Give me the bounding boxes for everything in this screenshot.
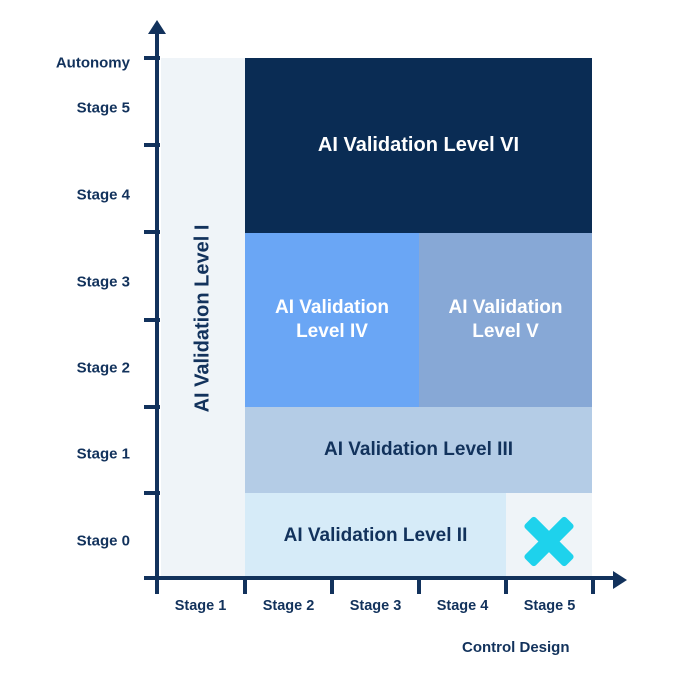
region-label-level-4-line1: AI Validation xyxy=(275,297,389,318)
region-label-level-3: AI Validation Level III xyxy=(324,438,513,462)
region-label-level-5: AI Validation Level V xyxy=(448,296,562,344)
x-axis-arrow-icon xyxy=(613,571,627,589)
y-axis-label-stage-5: Stage 5 xyxy=(77,101,130,116)
region-ai-validation-level-6[interactable]: AI Validation Level VI xyxy=(245,58,592,233)
y-tick-stage-3 xyxy=(144,318,160,322)
x-axis-label-stage-5: Stage 5 xyxy=(506,598,593,614)
y-axis-label-stage-3: Stage 3 xyxy=(77,275,130,290)
x-tick-5 xyxy=(591,578,595,594)
region-ai-validation-level-4[interactable]: AI Validation Level IV xyxy=(245,233,419,407)
region-ai-validation-level-5[interactable]: AI Validation Level V xyxy=(419,233,592,407)
diagram-canvas: AI Validation Level I AI Validation Leve… xyxy=(0,0,685,685)
x-tick-3 xyxy=(417,578,421,594)
y-tick-stage-4 xyxy=(144,230,160,234)
region-label-level-4-line2: Level IV xyxy=(296,321,368,342)
y-tick-stage-5 xyxy=(144,143,160,147)
x-tick-2 xyxy=(330,578,334,594)
region-label-level-2: AI Validation Level II xyxy=(284,524,468,548)
y-tick-autonomy xyxy=(144,56,160,60)
y-axis-label-stage-0: Stage 0 xyxy=(77,534,130,549)
x-axis-label-stage-2: Stage 2 xyxy=(245,598,332,614)
region-label-level-1: AI Validation Level I xyxy=(191,224,216,412)
y-tick-stage-1 xyxy=(144,491,160,495)
x-axis-label-stage-4: Stage 4 xyxy=(419,598,506,614)
y-axis-label-stage-4: Stage 4 xyxy=(77,188,130,203)
x-axis-label-stage-3: Stage 3 xyxy=(332,598,419,614)
y-axis-label-stage-1: Stage 1 xyxy=(77,447,130,462)
x-tick-1 xyxy=(243,578,247,594)
y-tick-stage-2 xyxy=(144,405,160,409)
y-axis-arrow-icon xyxy=(148,20,166,34)
region-ai-validation-level-1[interactable]: AI Validation Level I xyxy=(161,58,245,578)
x-tick-4 xyxy=(504,578,508,594)
region-ai-validation-level-3[interactable]: AI Validation Level III xyxy=(245,407,592,493)
x-mark-icon xyxy=(521,513,577,569)
x-tick-0 xyxy=(155,578,159,594)
region-ai-validation-level-2[interactable]: AI Validation Level II xyxy=(245,493,506,578)
y-axis-label-autonomy: Autonomy xyxy=(56,56,130,71)
region-label-level-5-line2: Level V xyxy=(472,321,539,342)
region-label-level-5-line1: AI Validation xyxy=(448,297,562,318)
y-axis-label-stage-2: Stage 2 xyxy=(77,361,130,376)
x-axis-line xyxy=(157,576,616,580)
region-label-level-6: AI Validation Level VI xyxy=(318,133,519,158)
x-axis-label-stage-1: Stage 1 xyxy=(157,598,244,614)
x-axis-title: Control Design xyxy=(462,639,570,656)
region-label-level-4: AI Validation Level IV xyxy=(275,296,389,344)
y-axis-line xyxy=(155,32,159,580)
